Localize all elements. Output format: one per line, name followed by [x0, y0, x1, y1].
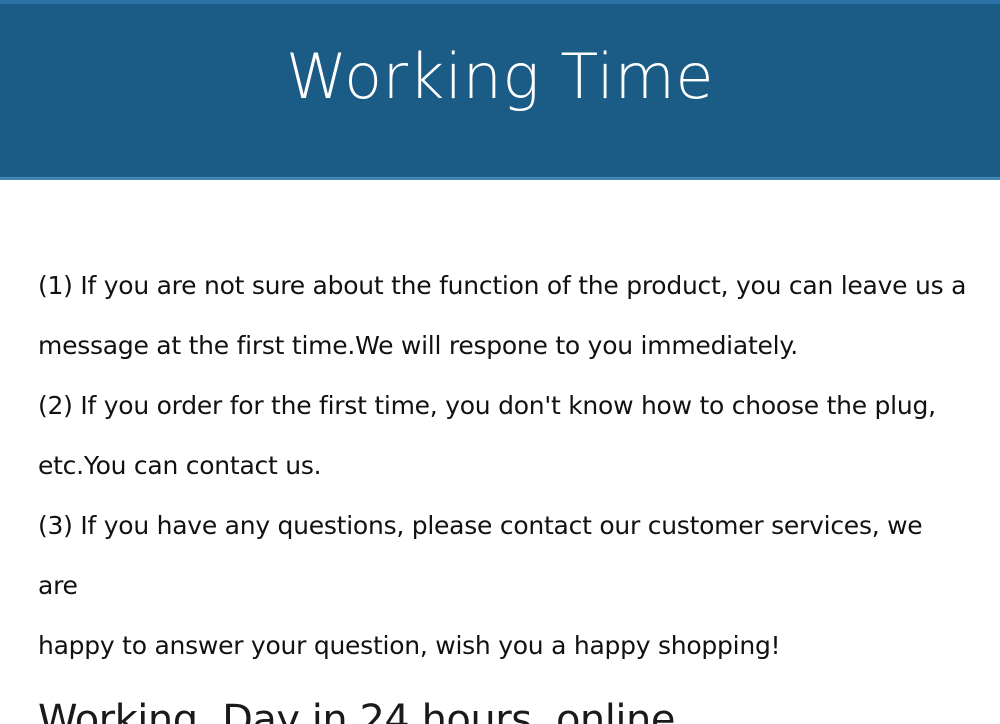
page-title: Working Time	[0, 40, 1000, 114]
policy-paragraph-2: (2) If you order for the first time, you…	[38, 376, 968, 496]
banner-bottom-accent-line	[0, 177, 1000, 180]
page-header-banner: Working Time	[0, 0, 1000, 180]
banner-top-accent-line	[0, 0, 1000, 4]
policy-paragraph-1: (1) If you are not sure about the functi…	[38, 256, 968, 376]
policy-content: (1) If you are not sure about the functi…	[38, 198, 968, 724]
policy-paragraph-3: (3) If you have any questions, please co…	[38, 496, 968, 676]
working-time-page: Working Time (1) If you are not sure abo…	[0, 0, 1000, 724]
working-hours-tagline: Working Day in 24 hours online	[38, 688, 968, 724]
